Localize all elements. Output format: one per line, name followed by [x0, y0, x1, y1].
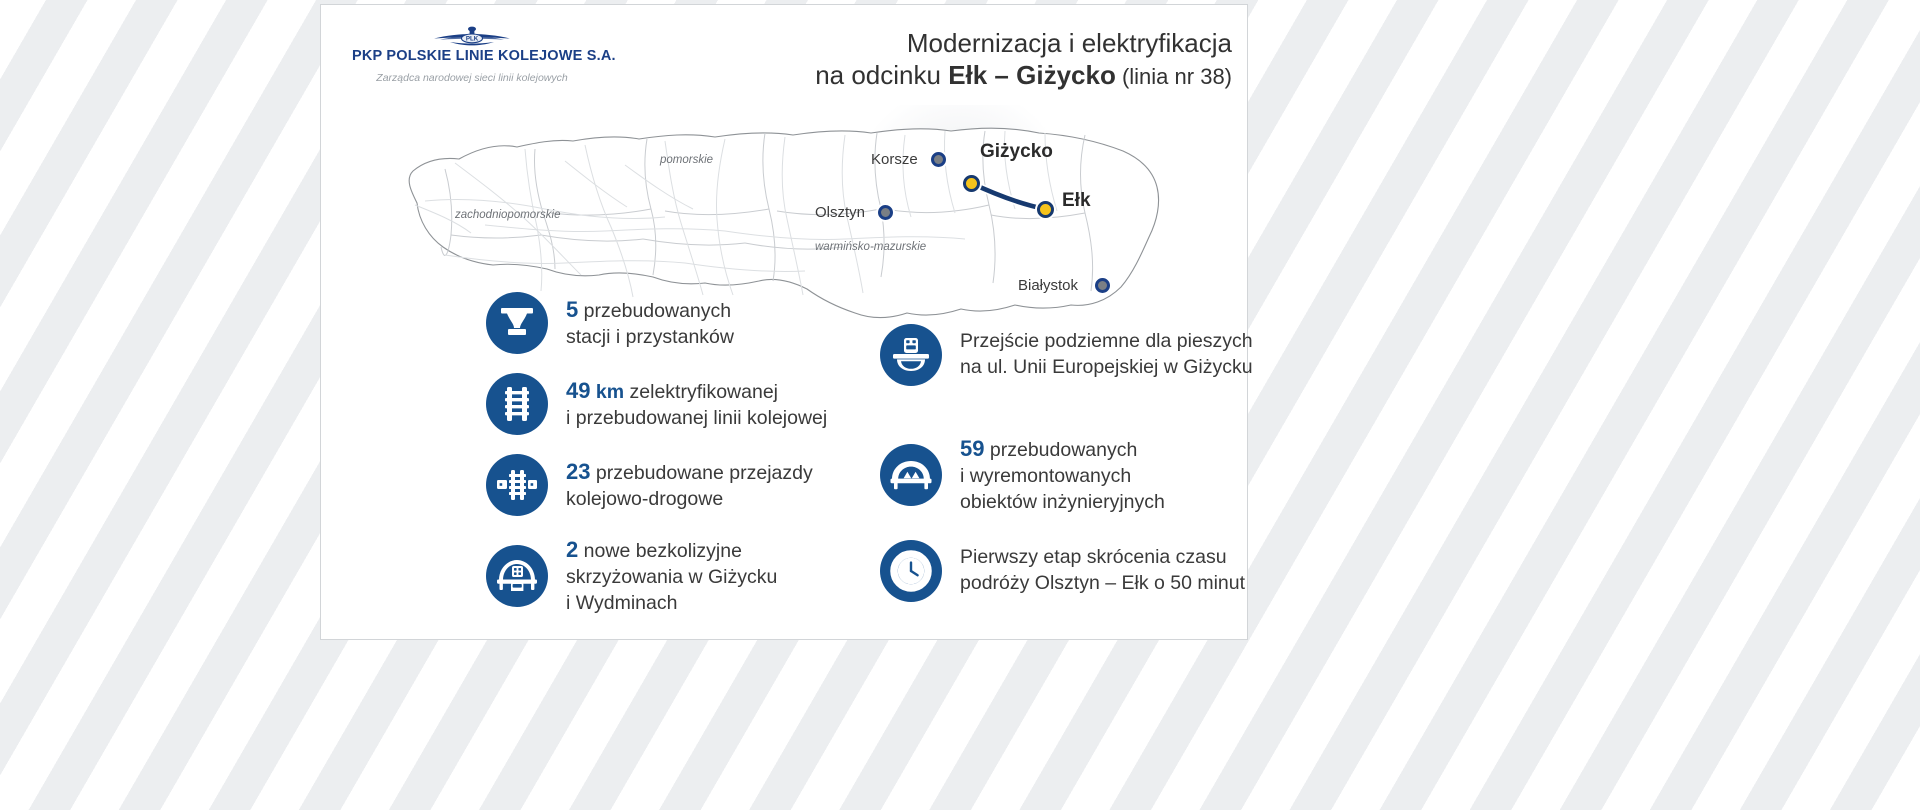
stat-item-grade-separated: 2 nowe bezkolizyjne skrzyżowania w Giżyc…	[486, 535, 777, 617]
city-marker-korsze[interactable]	[931, 152, 946, 167]
city-label-elk: Ełk	[1062, 190, 1091, 212]
stat-item-level-crossings: 23 przebudowane przejazdy kolejowo-drogo…	[486, 454, 813, 516]
stat-text-grade-separated: 2 nowe bezkolizyjne skrzyżowania w Giżyc…	[566, 535, 777, 617]
grade-separated-crossing-icon	[486, 545, 548, 607]
stat-text-electrified-km: 49 km zelektryfikowanej i przebudowanej …	[566, 376, 827, 432]
stat-text-level-crossings: 23 przebudowane przejazdy kolejowo-drogo…	[566, 457, 813, 513]
stat-line-1: przebudowane przejazdy	[596, 462, 813, 484]
city-marker-elk[interactable]	[1037, 201, 1054, 218]
logo-tagline: Zarządca narodowej sieci linii kolejowyc…	[352, 72, 592, 84]
stat-line-1: przebudowanych	[990, 439, 1137, 461]
stat-number-km: 49	[566, 378, 590, 403]
stat-unit-km: km	[596, 381, 624, 403]
page-title: Modernizacja i elektryfikacja na odcinku…	[700, 28, 1232, 91]
city-marker-olsztyn[interactable]	[878, 205, 893, 220]
stat-number-stations: 5	[566, 297, 578, 322]
city-label-korsze: Korsze	[871, 151, 918, 168]
stat-line-2: skrzyżowania w Giżycku	[566, 566, 777, 588]
stat-line-1: Przejście podziemne dla pieszych	[960, 330, 1253, 352]
title-line-number: (linia nr 38)	[1116, 64, 1232, 89]
stat-line-1: zelektryfikowanej	[630, 381, 778, 403]
stat-text-travel-time: Pierwszy etap skrócenia czasu podróży Ol…	[960, 545, 1245, 597]
city-marker-bialystok[interactable]	[1095, 278, 1110, 293]
bridge-icon	[880, 444, 942, 506]
stat-number-grade-separated: 2	[566, 537, 578, 562]
city-label-olsztyn: Olsztyn	[815, 204, 865, 221]
stat-number-crossings: 23	[566, 459, 590, 484]
title-line-2: na odcinku Ełk – Giżycko (linia nr 38)	[700, 60, 1232, 92]
region-label-zachodniopomorskie: zachodniopomorskie	[455, 209, 560, 221]
stat-line-2: stacji i przystanków	[566, 326, 734, 348]
city-label-bialystok: Białystok	[1018, 277, 1078, 294]
stat-text-engineering-objects: 59 przebudowanych i wyremontowanych obie…	[960, 434, 1165, 516]
stat-line-2: i przebudowanej linii kolejowej	[566, 407, 827, 429]
region-label-warminsko-mazurskie: warmińsko-mazurskie	[815, 241, 926, 253]
stat-line-2: i wyremontowanych	[960, 465, 1131, 487]
stat-item-engineering-objects: 59 przebudowanych i wyremontowanych obie…	[880, 434, 1165, 516]
stat-line-1: przebudowanych	[584, 300, 731, 322]
stat-item-stations: 5 przebudowanych stacji i przystanków	[486, 292, 734, 354]
city-marker-gizycko[interactable]	[963, 175, 980, 192]
stat-text-underpass: Przejście podziemne dla pieszych na ul. …	[960, 329, 1253, 381]
clock-icon	[880, 540, 942, 602]
stat-item-travel-time: Pierwszy etap skrócenia czasu podróży Ol…	[880, 540, 1245, 602]
station-platform-icon	[486, 292, 548, 354]
stat-number-objects: 59	[960, 436, 984, 461]
pedestrian-underpass-icon	[880, 324, 942, 386]
poland-map: zachodniopomorskie pomorskie warmińsko-m…	[385, 105, 1185, 315]
logo-company-name: PKP POLSKIE LINIE KOLEJOWE S.A.	[352, 49, 592, 64]
stat-line-3: obiektów inżynieryjnych	[960, 491, 1165, 513]
poster-canvas: PLK PKP POLSKIE LINIE KOLEJOWE S.A. Zarz…	[0, 0, 1920, 810]
pkp-plk-logo: PLK PKP POLSKIE LINIE KOLEJOWE S.A. Zarz…	[352, 22, 592, 84]
title-prefix: na odcinku	[815, 60, 948, 90]
city-label-gizycko: Giżycko	[980, 141, 1053, 163]
title-line-1: Modernizacja i elektryfikacja	[700, 28, 1232, 60]
stat-line-2: na ul. Unii Europejskiej w Giżycku	[960, 356, 1253, 378]
stat-line-1: nowe bezkolizyjne	[584, 540, 742, 562]
stat-text-stations: 5 przebudowanych stacji i przystanków	[566, 295, 734, 351]
stat-line-1: Pierwszy etap skrócenia czasu	[960, 546, 1227, 568]
stat-line-2: kolejowo-drogowe	[566, 488, 723, 510]
plk-winged-wheel-logo-icon: PLK	[352, 22, 592, 48]
stat-line-2: podróży Olsztyn – Ełk o 50 minut	[960, 572, 1245, 594]
region-label-pomorskie: pomorskie	[660, 154, 713, 166]
railway-track-icon	[486, 373, 548, 435]
stat-line-3: i Wydminach	[566, 592, 677, 614]
level-crossing-icon	[486, 454, 548, 516]
title-route: Ełk – Giżycko	[948, 60, 1116, 90]
stat-item-electrified-km: 49 km zelektryfikowanej i przebudowanej …	[486, 373, 827, 435]
stat-item-underpass: Przejście podziemne dla pieszych na ul. …	[880, 324, 1253, 386]
svg-text:PLK: PLK	[466, 36, 479, 43]
